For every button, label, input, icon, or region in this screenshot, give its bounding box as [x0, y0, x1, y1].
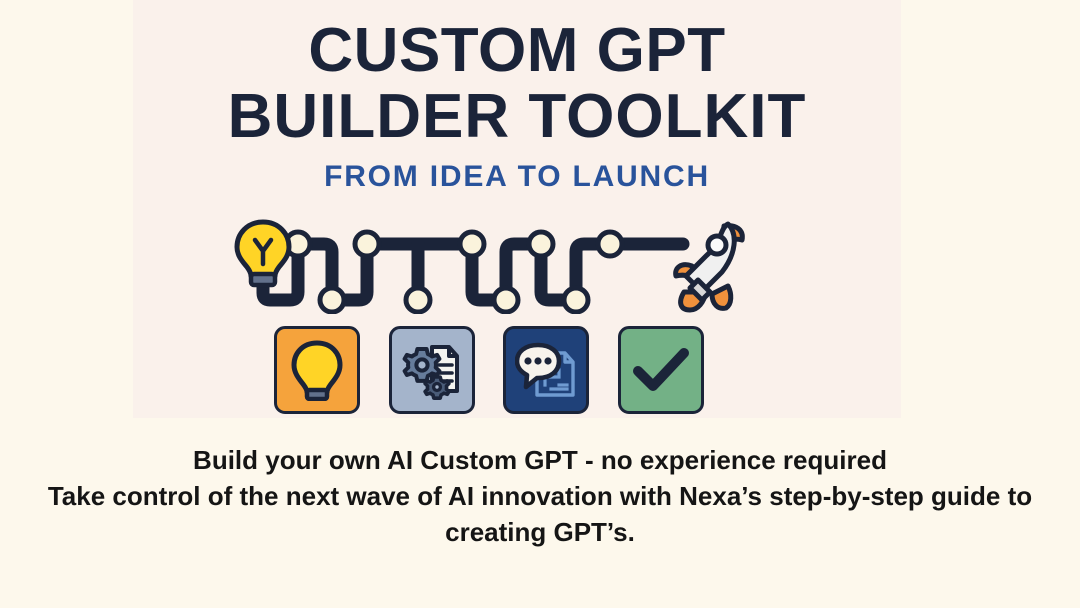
- journey-node: [598, 232, 622, 256]
- page-title-line-2: BUILDER TOOLKIT: [133, 84, 901, 150]
- caption-line-1: Build your own AI Custom GPT - no experi…: [0, 442, 1080, 478]
- headline-block: CUSTOM GPT BUILDER TOOLKIT FROM IDEA TO …: [133, 18, 901, 194]
- journey-node: [529, 232, 553, 256]
- page-title-line-1: CUSTOM GPT: [133, 18, 901, 84]
- journey-path-svg: [228, 214, 758, 314]
- caption-line-3: creating GPT’s.: [0, 514, 1080, 550]
- journey-node: [564, 288, 588, 312]
- journey-node: [406, 288, 430, 312]
- page-subtitle: FROM IDEA TO LAUNCH: [133, 160, 901, 194]
- caption-line-2: Take control of the next wave of AI inno…: [0, 478, 1080, 514]
- caption-block: Build your own AI Custom GPT - no experi…: [0, 442, 1080, 550]
- lightbulb-icon: [290, 339, 344, 401]
- checkmark-icon: [632, 346, 690, 394]
- journey-node: [494, 288, 518, 312]
- lightbulb-icon: [237, 222, 289, 285]
- rocket-icon: [676, 224, 743, 310]
- idea-tile[interactable]: [274, 326, 360, 414]
- journey-path-graphic: [228, 214, 758, 314]
- journey-node: [320, 288, 344, 312]
- chat-blueprint-icon: [515, 339, 577, 401]
- poster-canvas: CUSTOM GPT BUILDER TOOLKIT FROM IDEA TO …: [0, 0, 1080, 608]
- feature-tile-row: [274, 326, 704, 414]
- journey-node: [460, 232, 484, 256]
- build-tile[interactable]: [389, 326, 475, 414]
- gears-document-icon: [401, 339, 463, 401]
- chat-blueprint-tile[interactable]: [503, 326, 589, 414]
- launch-complete-tile[interactable]: [618, 326, 704, 414]
- journey-node: [355, 232, 379, 256]
